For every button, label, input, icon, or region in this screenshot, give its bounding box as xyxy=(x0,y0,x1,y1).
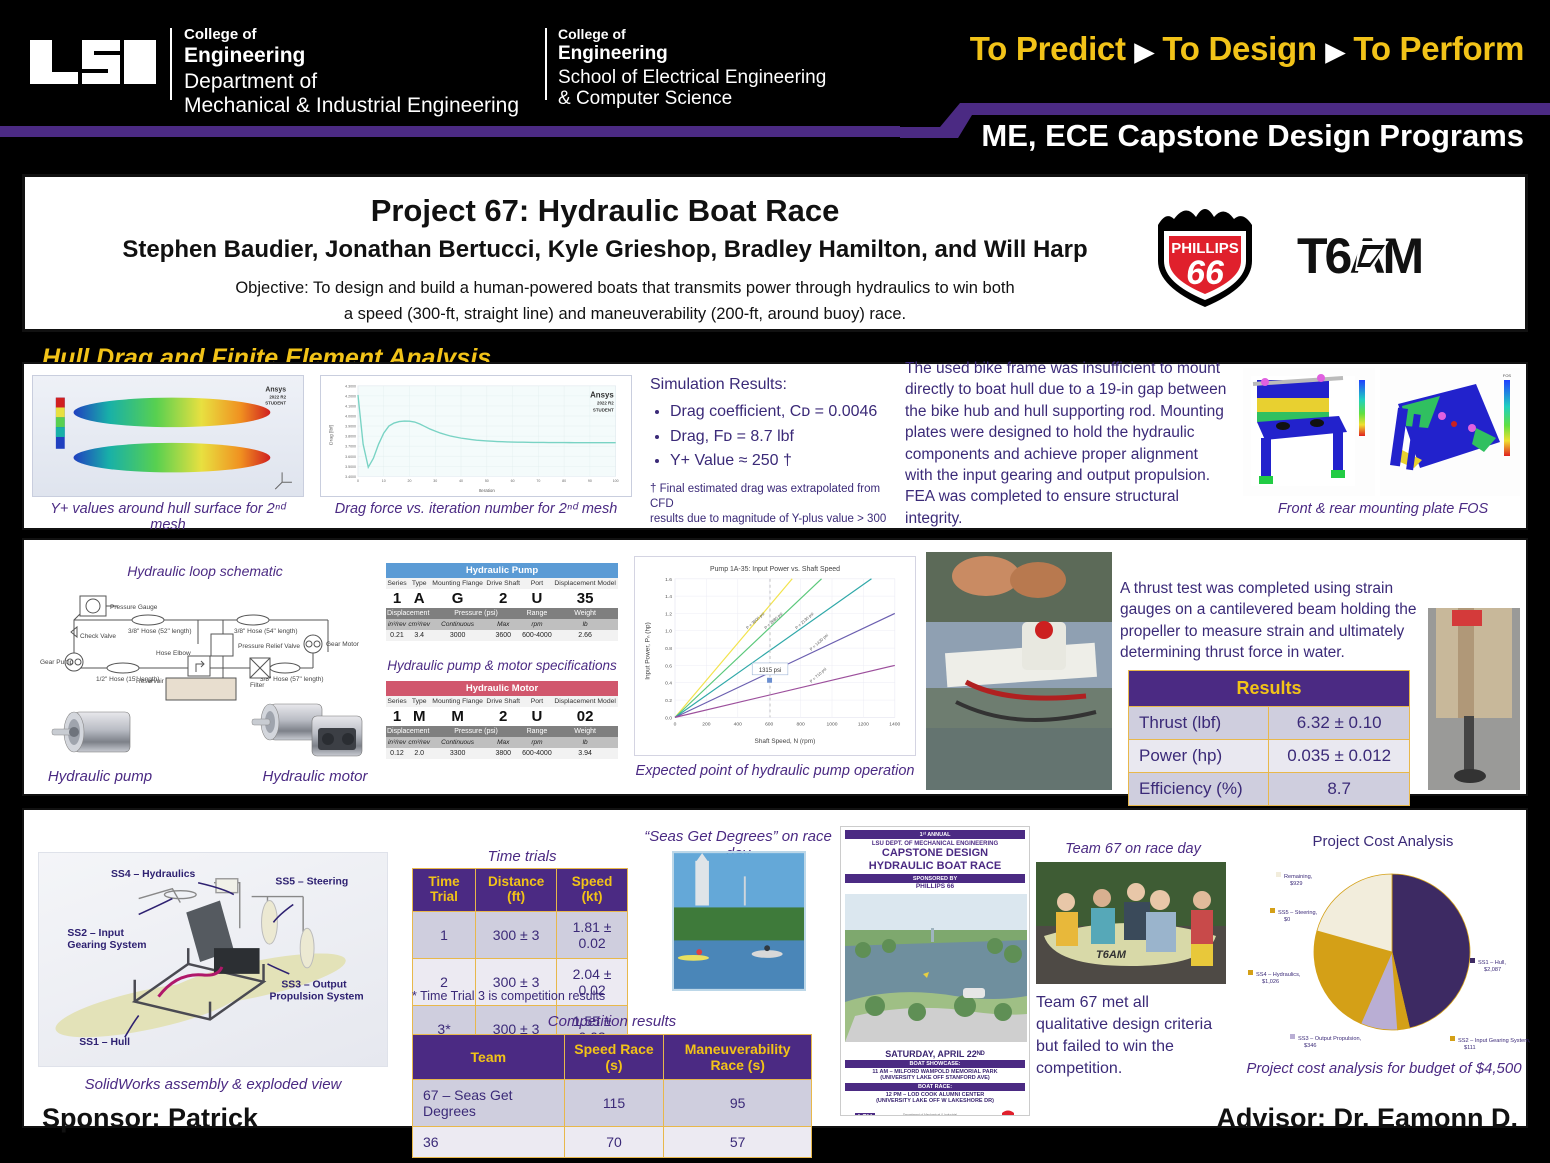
flyer-race-header: BOAT RACE: xyxy=(845,1083,1025,1091)
svg-text:0: 0 xyxy=(357,479,359,483)
yplus-hull-image: Ansys 2022 R2 STUDENT xyxy=(32,375,304,497)
t6am-team-logo: T6AM xyxy=(1293,225,1473,287)
svg-text:Hose Elbow: Hose Elbow xyxy=(156,650,191,657)
simulation-results-block: Simulation Results: Drag coefficient, Cᴅ… xyxy=(650,373,890,527)
bullet-drag: Drag, Fᴅ = 8.7 lbf xyxy=(670,425,890,450)
svg-text:1.6: 1.6 xyxy=(665,577,672,583)
motor-sub-max: Max xyxy=(485,737,522,748)
thrust-description: A thrust test was completed using strain… xyxy=(1120,578,1420,664)
motor-hdr-port: Port xyxy=(522,696,553,707)
team-result-text: Team 67 met all qualitative design crite… xyxy=(1036,992,1222,1080)
poster-root: College of Engineering Department of Mec… xyxy=(0,0,1550,1163)
motor-sv-rpm: 600-4000 xyxy=(522,748,553,759)
caption-drag: Drag force vs. iteration number for 2ⁿᵈ … xyxy=(320,501,632,517)
motor-hdr-shaft: Drive Shaft xyxy=(485,696,522,707)
pie-label: SS1 – Hull, xyxy=(1478,960,1506,966)
pump-val-port: U xyxy=(522,589,553,608)
svg-text:$929: $929 xyxy=(1290,881,1302,887)
svg-text:1.4: 1.4 xyxy=(665,594,672,600)
svg-text:Propulsion System: Propulsion System xyxy=(269,992,363,1003)
motor-sub-cont: Continuous xyxy=(430,737,484,748)
flyer-showcase-loc2: (UNIVERSITY LAKE OFF STANFORD AVE) xyxy=(845,1075,1025,1081)
pump-hdr-series: Series xyxy=(386,578,408,589)
svg-text:Shaft Speed, N (rpm): Shaft Speed, N (rpm) xyxy=(755,738,816,745)
caption-pump: Hydraulic pump xyxy=(30,768,170,785)
caption-cost: Project cost analysis for budget of $4,5… xyxy=(1238,1060,1530,1077)
svg-text:0.6: 0.6 xyxy=(665,663,672,669)
svg-text:3.5000: 3.5000 xyxy=(345,465,356,469)
results-row-value-thrust: 6.32 ± 0.10 xyxy=(1269,707,1410,740)
motor-spec-table-wrap: Hydraulic Motor Series Type Mounting Fla… xyxy=(386,681,618,759)
pie-label: SS3 – Output Propulsion, xyxy=(1298,1036,1362,1042)
svg-text:200: 200 xyxy=(702,721,710,727)
dept-mie-engineering: Engineering xyxy=(184,44,519,68)
motor-val-flange: M xyxy=(430,707,484,726)
advisor-text: Advisor: Dr. Eamonn D. xyxy=(1216,1103,1518,1134)
tt-hdr-distance: Distance (ft) xyxy=(476,869,557,912)
pump-hdr-flange: Mounting Flange xyxy=(430,578,484,589)
caption-schematic: Hydraulic loop schematic xyxy=(40,563,370,579)
pie-label: SS2 – Input Gearing System, xyxy=(1458,1038,1530,1044)
pump-sv-lb: 2.66 xyxy=(552,630,618,641)
svg-text:STUDENT: STUDENT xyxy=(265,401,286,406)
svg-text:$346: $346 xyxy=(1304,1043,1316,1049)
motor-sv-max: 3800 xyxy=(485,748,522,759)
fea-description: The used bike frame was insufficient to … xyxy=(905,358,1227,529)
results-row-label-efficiency: Efficiency (%) xyxy=(1129,773,1269,806)
pump-sub-cont: Continuous xyxy=(430,619,484,630)
team-67-photo: T6AM xyxy=(1036,862,1226,984)
svg-text:80: 80 xyxy=(562,479,566,483)
results-row-value-power: 0.035 ± 0.012 xyxy=(1269,740,1410,773)
pump-sv-cm3: 3.4 xyxy=(408,630,430,641)
pump-sv-rpm: 600-4000 xyxy=(522,630,553,641)
svg-text:Pressure Relief Valve: Pressure Relief Valve xyxy=(238,643,300,650)
tagline-predict: To Predict xyxy=(970,30,1126,67)
svg-text:SS3 – Output: SS3 – Output xyxy=(281,980,347,991)
pump-sv-max: 3600 xyxy=(485,630,522,641)
tagline-perform: To Perform xyxy=(1353,30,1524,67)
tt-r1-c1: 1 xyxy=(413,911,476,958)
cr-r2-c1: 36 xyxy=(413,1127,565,1158)
flyer-annual: 1ˢᵗ ANNUAL xyxy=(845,830,1025,839)
cr-r1-c2: 115 xyxy=(564,1080,664,1127)
svg-text:1.2: 1.2 xyxy=(665,611,672,617)
bullet-yplus: Y+ Value ≈ 250 † xyxy=(670,449,890,474)
arrow-right-icon-2: ▶ xyxy=(1326,38,1345,66)
svg-text:SS5 – Steering: SS5 – Steering xyxy=(275,877,348,888)
sim-note-line-1: † Final estimated drag was extrapolated … xyxy=(650,482,890,512)
motor-grp-range: Range xyxy=(522,726,553,737)
cr-r2-c3: 57 xyxy=(664,1127,812,1158)
results-row-label-power: Power (hp) xyxy=(1129,740,1269,773)
motor-table-title: Hydraulic Motor xyxy=(386,681,618,696)
page-title: Project 67: Hydraulic Boat Race xyxy=(25,193,1525,229)
motor-spec-table: Hydraulic Motor Series Type Mounting Fla… xyxy=(386,681,618,759)
svg-text:600: 600 xyxy=(765,721,773,727)
pump-grp-press: Pressure (psi) xyxy=(430,608,521,619)
svg-text:1000: 1000 xyxy=(827,721,838,727)
svg-text:1200: 1200 xyxy=(858,721,869,727)
pump-sub-lb: lb xyxy=(552,619,618,630)
results-title: Results xyxy=(1129,671,1410,707)
pump-val-shaft: 2 xyxy=(485,589,522,608)
svg-text:$0: $0 xyxy=(1284,917,1290,923)
svg-text:4.1000: 4.1000 xyxy=(345,405,356,409)
svg-text:3.4000: 3.4000 xyxy=(345,475,356,479)
svg-text:Gear Motor: Gear Motor xyxy=(326,641,360,648)
svg-text:2022 R2: 2022 R2 xyxy=(597,401,614,406)
pump-spec-table-wrap: Hydraulic Pump Series Type Mounting Flan… xyxy=(386,563,618,641)
svg-text:STUDENT: STUDENT xyxy=(593,407,614,412)
motor-hdr-type: Type xyxy=(408,696,430,707)
pump-grp-range: Range xyxy=(522,608,553,619)
svg-text:800: 800 xyxy=(796,721,804,727)
svg-text:Filter: Filter xyxy=(250,682,265,689)
cr-r2-c2: 70 xyxy=(564,1127,664,1158)
simulation-bullets: Drag coefficient, Cᴅ = 0.0046 Drag, Fᴅ =… xyxy=(670,400,890,474)
results-row-label-thrust: Thrust (lbf) xyxy=(1129,707,1269,740)
svg-text:T6AM: T6AM xyxy=(1096,949,1127,961)
pump-sub-rpm: rpm xyxy=(522,619,553,630)
svg-text:$1,026: $1,026 xyxy=(1262,979,1279,985)
results-table: Results Thrust (lbf) 6.32 ± 0.10 Power (… xyxy=(1128,670,1410,806)
dept-ece: College of Engineering School of Electri… xyxy=(558,27,826,109)
cr-hdr-team: Team xyxy=(413,1035,565,1080)
header-purple-rule xyxy=(0,126,900,137)
svg-text:10: 10 xyxy=(382,479,386,483)
hydraulic-motor-photo xyxy=(250,696,375,766)
tt-r1-c2: 300 ± 3 xyxy=(476,911,557,958)
pie-label: SS5 – Steering, xyxy=(1278,910,1318,916)
competition-table-wrap: Team Speed Race (s) Maneuverability Race… xyxy=(412,1034,812,1158)
svg-text:4.2000: 4.2000 xyxy=(345,394,356,398)
flyer-footer-dept: Department of Mechanical & Industrial En… xyxy=(903,1113,973,1116)
dept-ece-line2: & Computer Science xyxy=(558,88,826,109)
caption-time-trials: Time trials xyxy=(412,848,632,865)
caption-spec: Hydraulic pump & motor specifications xyxy=(384,658,620,673)
pump-val-series: 1 xyxy=(386,589,408,608)
dept-mie-line1: Department of xyxy=(184,70,519,94)
solidworks-assembly-image: SS4 – Hydraulics SS5 – Steering SS2 – In… xyxy=(38,852,388,1067)
title-card: Project 67: Hydraulic Boat Race Stephen … xyxy=(22,174,1528,332)
motor-grp-disp: Displacement xyxy=(386,726,430,737)
svg-text:70: 70 xyxy=(536,479,540,483)
pump-hdr-port: Port xyxy=(522,578,553,589)
motor-sv-in3: 0.12 xyxy=(386,748,408,759)
cost-pie-chart: SS1 – Hull,$2,087SS2 – Input Gearing Sys… xyxy=(1240,852,1530,1052)
dept-ece-college: College of xyxy=(558,27,826,43)
tagline: To Predict ▶ To Design ▶ To Perform xyxy=(970,30,1524,68)
svg-text:Ansys: Ansys xyxy=(590,391,614,400)
dept-mie-college: College of xyxy=(184,27,519,44)
svg-text:3.6000: 3.6000 xyxy=(345,455,356,459)
time-trials-footnote: * Time Trial 3 is competition results xyxy=(412,989,652,1003)
motor-hdr-disp: Displacement Model xyxy=(552,696,618,707)
svg-text:4.0000: 4.0000 xyxy=(345,415,356,419)
motor-hdr-series: Series xyxy=(386,696,408,707)
tt-r1-c3: 1.81 ± 0.02 xyxy=(557,911,628,958)
svg-text:Check Valve: Check Valve xyxy=(80,633,116,640)
motor-grp-press: Pressure (psi) xyxy=(430,726,521,737)
svg-text:3/8" Hose (52" length): 3/8" Hose (52" length) xyxy=(128,628,192,635)
svg-text:1315 psi: 1315 psi xyxy=(759,668,781,674)
pump-sv-cont: 3000 xyxy=(430,630,484,641)
svg-text:4.3000: 4.3000 xyxy=(345,384,356,388)
tagline-design: To Design xyxy=(1162,30,1316,67)
drag-chart: 3.40003.50003.60003.70003.80003.90004.00… xyxy=(320,375,632,497)
motor-sub-rpm: rpm xyxy=(522,737,553,748)
svg-text:FOS: FOS xyxy=(1503,373,1512,378)
motor-val-shaft: 2 xyxy=(485,707,522,726)
header-divider-2 xyxy=(545,28,547,100)
tt-hdr-speed: Speed (kt) xyxy=(557,869,628,912)
svg-text:3/8" Hose (54" length): 3/8" Hose (54" length) xyxy=(234,628,298,635)
pump-hdr-shaft: Drive Shaft xyxy=(485,578,522,589)
flyer-lsu-logo: LSU xyxy=(855,1113,875,1116)
flyer-date: SATURDAY, APRIL 22ᴺᴰ xyxy=(845,1049,1025,1059)
pump-chart-title: Pump 1A-35: Input Power vs. Shaft Speed xyxy=(710,566,840,573)
svg-text:3.9000: 3.9000 xyxy=(345,425,356,429)
svg-text:SS2 – Input: SS2 – Input xyxy=(67,928,124,939)
svg-text:66: 66 xyxy=(1186,254,1225,292)
hydraulic-loop-schematic: Pressure Gauge Check Valve Gear Pump 3/8… xyxy=(38,582,378,702)
pump-hdr-type: Type xyxy=(408,578,430,589)
motor-sv-cm3: 2.0 xyxy=(408,748,430,759)
motor-sub-in3: in³/rev xyxy=(386,737,408,748)
pie-label: Remaining, xyxy=(1284,874,1313,880)
flyer-showcase-header: BOAT SHOWCASE: xyxy=(845,1060,1025,1068)
svg-text:Pressure Gauge: Pressure Gauge xyxy=(110,604,158,611)
svg-text:Drag [lbf]: Drag [lbf] xyxy=(328,424,334,445)
caption-competition: Competition results xyxy=(412,1013,812,1030)
motor-val-port: U xyxy=(522,707,553,726)
motor-sv-lb: 3.94 xyxy=(552,748,618,759)
motor-grp-weight: Weight xyxy=(552,726,618,737)
svg-text:0.4: 0.4 xyxy=(665,681,672,687)
svg-text:100: 100 xyxy=(613,479,619,483)
sim-note-line-2: results due to magnitude of Y-plus value… xyxy=(650,512,890,527)
pump-power-chart: Pump 1A-35: Input Power vs. Shaft Speed … xyxy=(634,556,916,756)
phillips-66-logo: PHILLIPS 66 xyxy=(1148,199,1263,311)
pump-val-type: A xyxy=(408,589,430,608)
caption-solidworks: SolidWorks assembly & exploded view xyxy=(38,1076,388,1093)
svg-text:$2,087: $2,087 xyxy=(1484,967,1501,973)
caption-motor: Hydraulic motor xyxy=(245,768,385,785)
lsu-logo xyxy=(28,34,158,90)
svg-text:60: 60 xyxy=(511,479,515,483)
flyer-sponsored: SPONSORED BY xyxy=(845,874,1025,883)
pump-sub-max: Max xyxy=(485,619,522,630)
bullet-cd: Drag coefficient, Cᴅ = 0.0046 xyxy=(670,400,890,425)
svg-text:3.7000: 3.7000 xyxy=(345,445,356,449)
race-event-flyer: 1ˢᵗ ANNUAL LSU DEPT. OF MECHANICAL ENGIN… xyxy=(840,826,1030,1116)
svg-text:90: 90 xyxy=(588,479,592,483)
competition-table: Team Speed Race (s) Maneuverability Race… xyxy=(412,1034,812,1158)
cost-chart-title: Project Cost Analysis xyxy=(1240,833,1526,850)
svg-text:SS1 – Hull: SS1 – Hull xyxy=(79,1037,130,1048)
pump-grp-disp: Displacement xyxy=(386,608,430,619)
svg-text:400: 400 xyxy=(734,721,742,727)
propeller-beam-photo xyxy=(1428,608,1520,790)
svg-text:20: 20 xyxy=(408,479,412,483)
pump-val-disp: 35 xyxy=(552,589,618,608)
caption-yplus: Y+ values around hull surface for 2ⁿᵈ me… xyxy=(32,501,304,533)
poster-header: College of Engineering Department of Mec… xyxy=(0,0,1550,170)
caption-pump-chart: Expected point of hydraulic pump operati… xyxy=(634,763,916,779)
pump-hdr-disp: Displacement Model xyxy=(552,578,618,589)
svg-text:Iteration: Iteration xyxy=(479,488,495,493)
pump-sv-in3: 0.21 xyxy=(386,630,408,641)
svg-text:3.8000: 3.8000 xyxy=(345,435,356,439)
cr-hdr-maneuver: Maneuverability Race (s) xyxy=(664,1035,812,1080)
flyer-title-2: HYDRAULIC BOAT RACE xyxy=(845,860,1025,873)
svg-text:0: 0 xyxy=(674,721,677,727)
svg-text:40: 40 xyxy=(459,479,463,483)
svg-text:0.2: 0.2 xyxy=(665,698,672,704)
svg-text:Input Power, Pₙ (hp): Input Power, Pₙ (hp) xyxy=(644,622,651,680)
motor-sv-cont: 3300 xyxy=(430,748,484,759)
objective-line-2: a speed (300-ft, straight line) and mane… xyxy=(25,303,1525,327)
pump-sub-in3: in³/rev xyxy=(386,619,408,630)
flyer-phillips-icon: 66 xyxy=(1001,1108,1015,1116)
svg-text:Reservoir: Reservoir xyxy=(136,678,165,685)
dept-mie-line2: Mechanical & Industrial Engineering xyxy=(184,94,519,118)
motor-sub-lb: lb xyxy=(552,737,618,748)
simulation-results-heading: Simulation Results: xyxy=(650,373,890,398)
dept-mie: College of Engineering Department of Mec… xyxy=(184,27,519,117)
cr-r1-c3: 95 xyxy=(664,1080,812,1127)
flyer-title-1: CAPSTONE DESIGN xyxy=(845,847,1025,860)
tt-hdr-trial: Time Trial xyxy=(413,869,476,912)
sponsor-text: Sponsor: Patrick xyxy=(42,1103,258,1134)
caption-fos: Front & rear mounting plate FOS xyxy=(1243,501,1523,517)
thrust-test-photo xyxy=(926,552,1112,790)
dept-ece-engineering: Engineering xyxy=(558,43,826,64)
motor-sub-cm3: cm³/rev xyxy=(408,737,430,748)
arrow-right-icon-1: ▶ xyxy=(1135,38,1154,66)
results-table-wrap: Results Thrust (lbf) 6.32 ± 0.10 Power (… xyxy=(1128,670,1410,806)
header-divider-1 xyxy=(170,28,172,100)
hydraulic-pump-photo xyxy=(48,700,153,764)
pie-label: SS4 – Hydraulics, xyxy=(1256,972,1301,978)
fos-front-plate-image xyxy=(1243,368,1375,496)
svg-text:$111: $111 xyxy=(1464,1045,1476,1051)
svg-text:Gear Pump: Gear Pump xyxy=(40,659,74,666)
results-row-value-efficiency: 8.7 xyxy=(1269,773,1410,806)
motor-val-series: 1 xyxy=(386,707,408,726)
pump-table-title: Hydraulic Pump xyxy=(386,563,618,578)
svg-text:1400: 1400 xyxy=(889,721,900,727)
svg-text:Ansys: Ansys xyxy=(265,387,286,394)
svg-text:SS4 – Hydraulics: SS4 – Hydraulics xyxy=(111,869,196,880)
cr-r1-c1: 67 – Seas Get Degrees xyxy=(413,1080,565,1127)
race-day-photo xyxy=(672,851,806,991)
pump-sub-cm3: cm³/rev xyxy=(408,619,430,630)
caption-team: Team 67 on race day xyxy=(1038,841,1228,857)
motor-hdr-flange: Mounting Flange xyxy=(430,696,484,707)
svg-text:0.8: 0.8 xyxy=(665,646,672,652)
svg-text:2022 R2: 2022 R2 xyxy=(269,395,286,400)
dept-ece-line1: School of Electrical Engineering xyxy=(558,67,826,88)
motor-val-disp: 02 xyxy=(552,707,618,726)
svg-text:0.0: 0.0 xyxy=(665,715,672,721)
fos-rear-plate-image: FOS xyxy=(1380,368,1520,496)
capstone-subtitle: ME, ECE Capstone Design Programs xyxy=(981,118,1524,154)
svg-text:Gearing System: Gearing System xyxy=(67,940,146,951)
cr-hdr-speed: Speed Race (s) xyxy=(564,1035,664,1080)
svg-text:50: 50 xyxy=(485,479,489,483)
svg-text:1.0: 1.0 xyxy=(665,629,672,635)
pump-spec-table: Hydraulic Pump Series Type Mounting Flan… xyxy=(386,563,618,641)
flyer-sponsor: PHILLIPS 66 xyxy=(845,883,1025,890)
pump-val-flange: G xyxy=(430,589,484,608)
motor-val-type: M xyxy=(408,707,430,726)
svg-text:30: 30 xyxy=(433,479,437,483)
pump-grp-weight: Weight xyxy=(552,608,618,619)
